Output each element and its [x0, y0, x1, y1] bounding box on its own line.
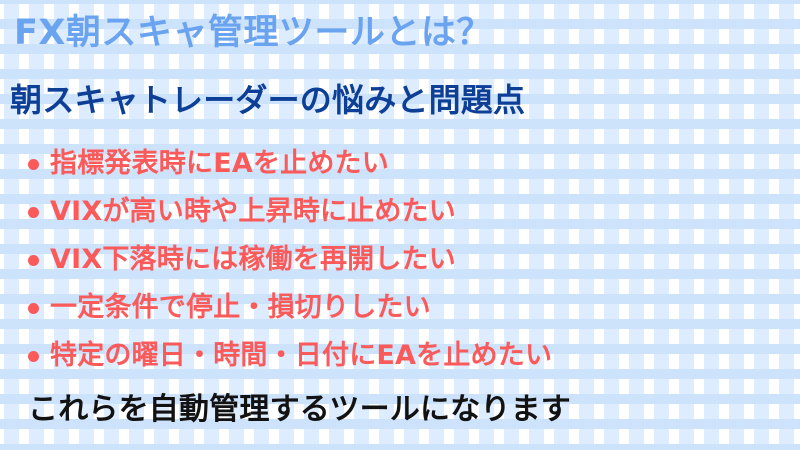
slide-content: FX朝スキャ管理ツールとは？ 朝スキャトレーダーの悩みと問題点 指標発表時にEA…	[0, 0, 800, 450]
slide-canvas: FX朝スキャ管理ツールとは？ 朝スキャトレーダーの悩みと問題点 指標発表時にEA…	[0, 0, 800, 450]
bullet-dot-icon	[28, 351, 39, 362]
list-item-label: VIX下落時には稼働を再開したい	[50, 244, 456, 276]
list-item: 指標発表時にEAを止めたい	[0, 140, 800, 188]
list-item: 特定の曜日・時間・日付にEAを止めたい	[0, 332, 800, 380]
bullet-dot-icon	[28, 255, 39, 266]
bullet-dot-icon	[28, 303, 39, 314]
list-item: VIXが高い時や上昇時に止めたい	[0, 188, 800, 236]
list-item-label: 指標発表時にEAを止めたい	[50, 148, 389, 180]
conclusion-text: これらを自動管理するツールになります	[28, 391, 571, 429]
list-item-label: VIXが高い時や上昇時に止めたい	[50, 196, 456, 228]
section-heading: 朝スキャトレーダーの悩みと問題点	[10, 80, 525, 120]
page-title: FX朝スキャ管理ツールとは？	[14, 12, 492, 56]
bullet-dot-icon	[28, 207, 39, 218]
problem-bullet-list: 指標発表時にEAを止めたい VIXが高い時や上昇時に止めたい VIX下落時には稼…	[0, 140, 800, 380]
bullet-dot-icon	[28, 159, 39, 170]
list-item-label: 特定の曜日・時間・日付にEAを止めたい	[50, 340, 552, 372]
list-item-label: 一定条件で停止・損切りしたい	[50, 292, 431, 324]
list-item: 一定条件で停止・損切りしたい	[0, 284, 800, 332]
list-item: VIX下落時には稼働を再開したい	[0, 236, 800, 284]
